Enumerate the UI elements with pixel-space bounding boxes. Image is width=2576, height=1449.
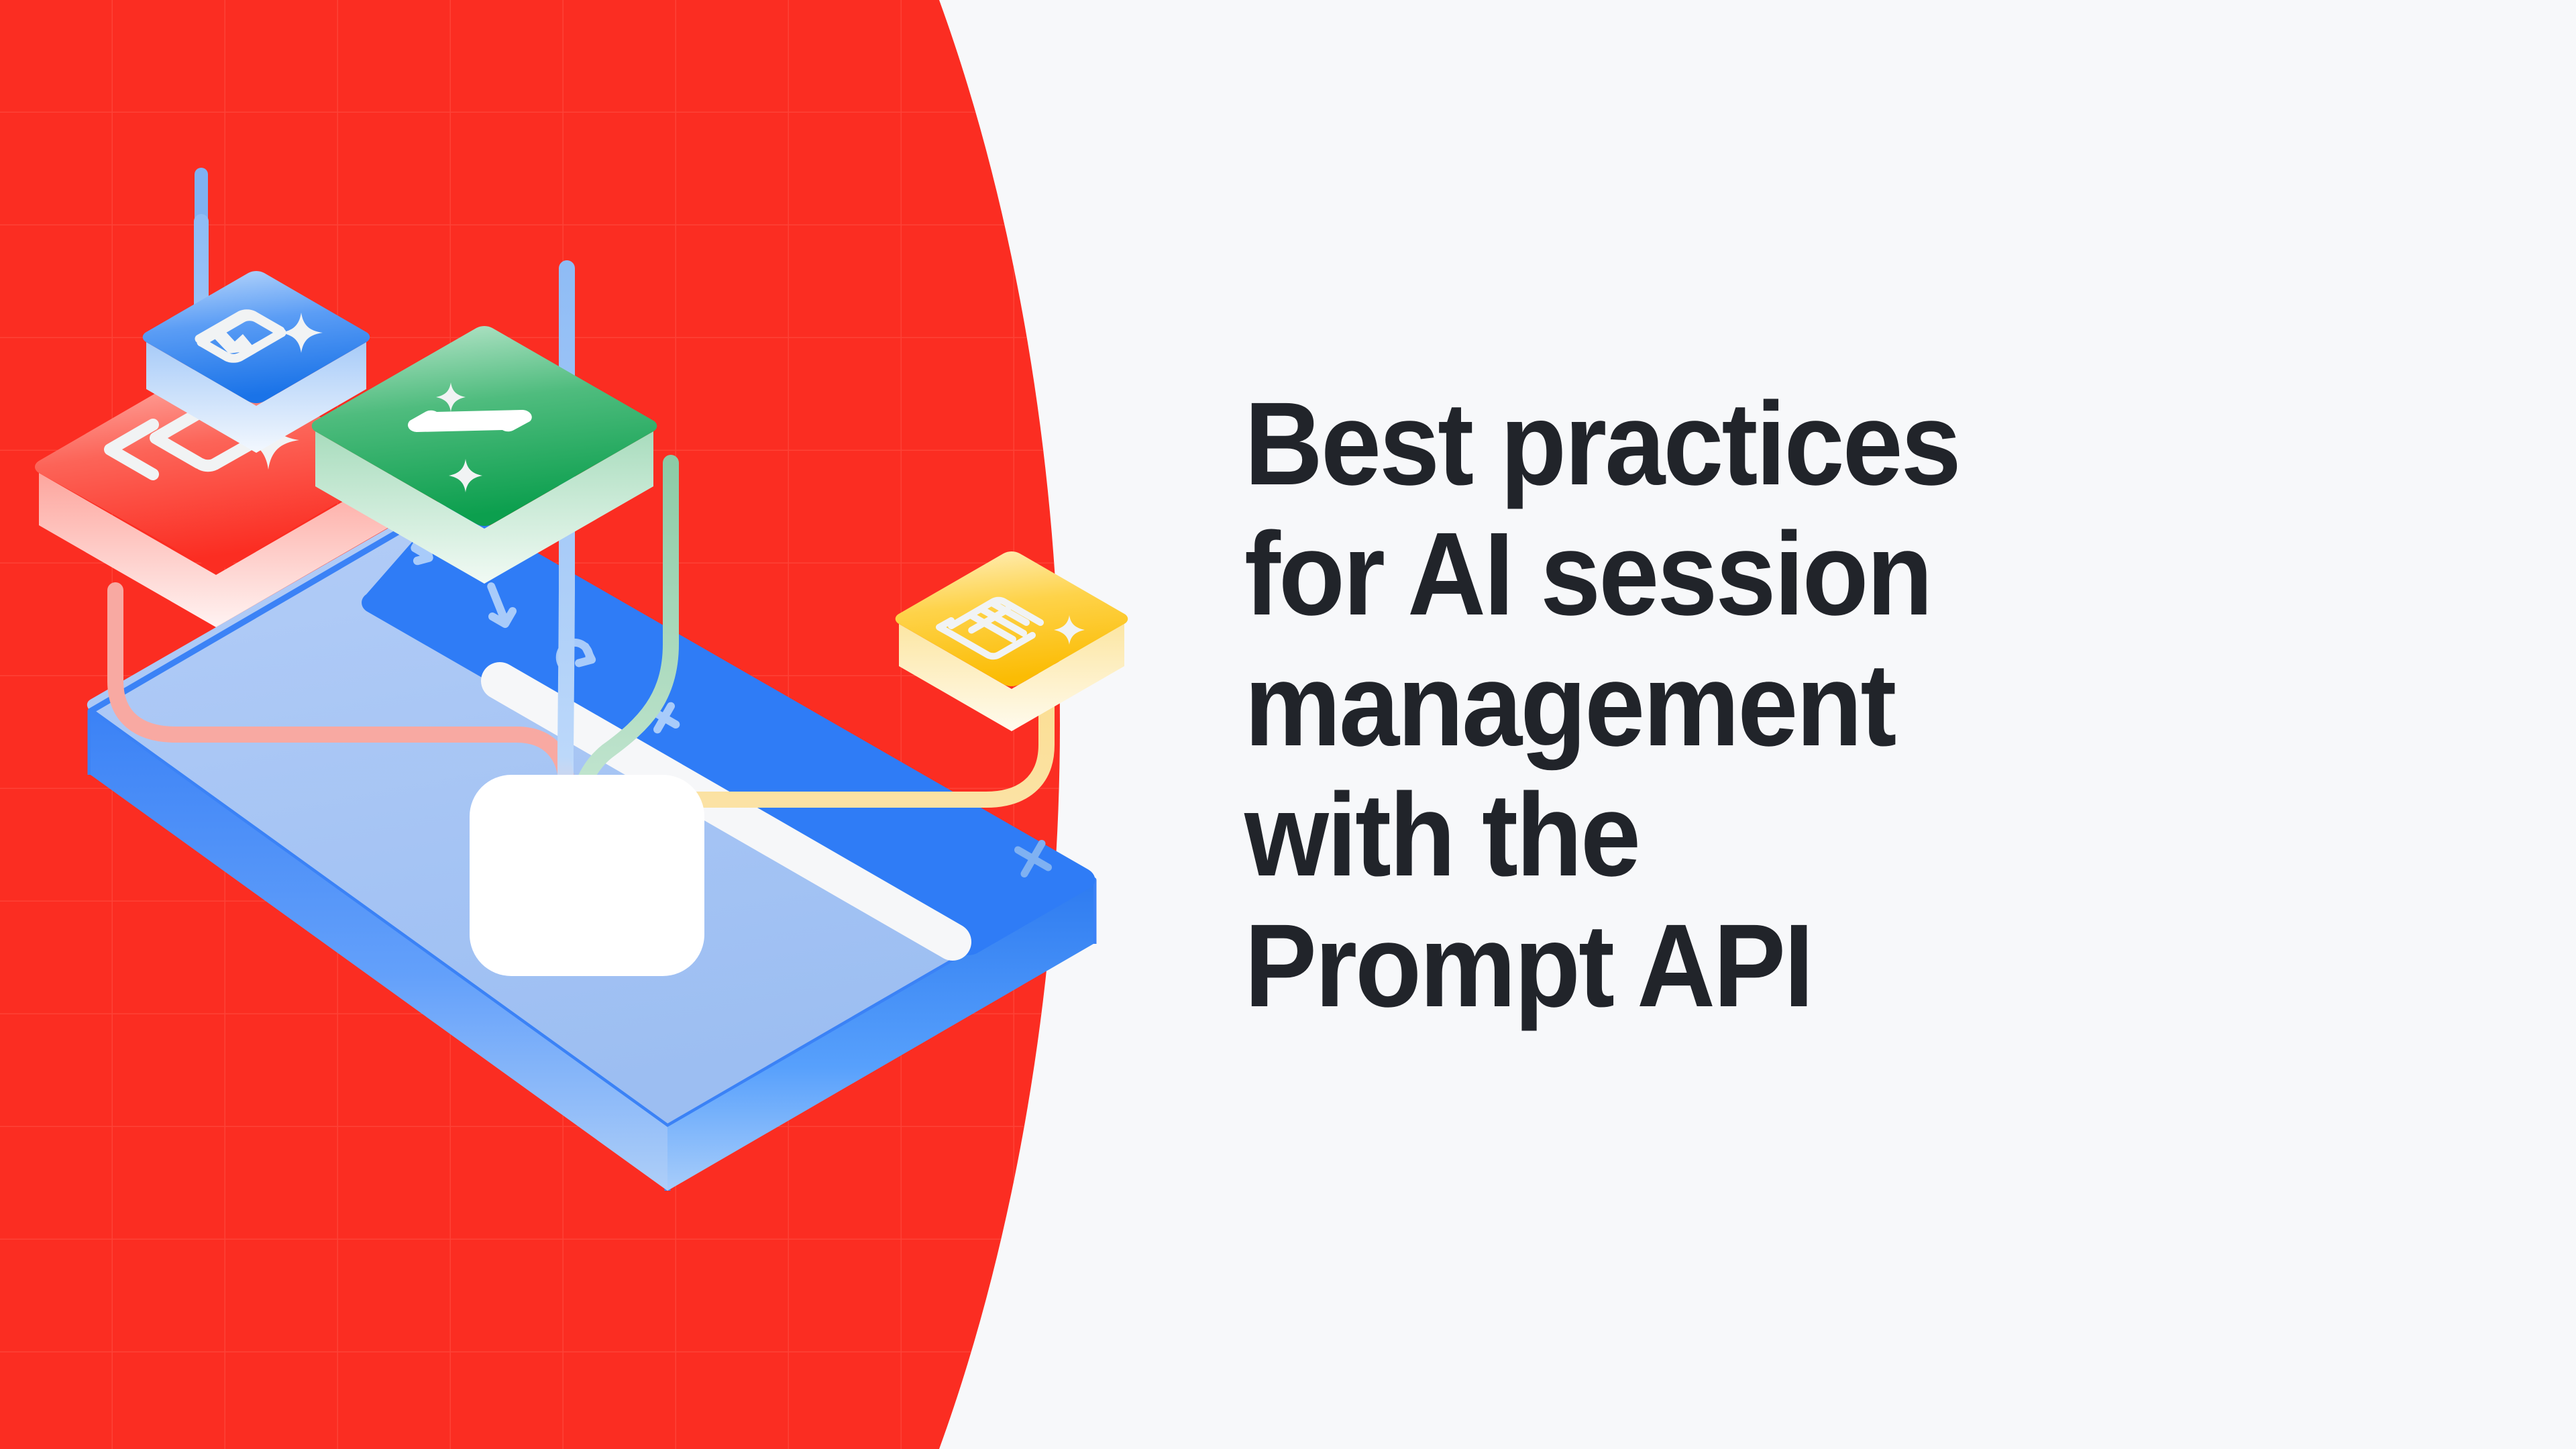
hero-banner: Best practices for AI session management…	[0, 0, 2576, 1449]
session-node[interactable]	[470, 775, 704, 976]
isometric-illustration	[0, 0, 1181, 1449]
page-title: Best practices for AI session management…	[1244, 379, 2207, 1031]
pencil-sparkle-icon	[408, 410, 532, 432]
headline-block: Best practices for AI session management…	[1244, 379, 2291, 1031]
session-node-surface	[470, 775, 704, 976]
tile-summarize[interactable]	[896, 551, 1128, 731]
